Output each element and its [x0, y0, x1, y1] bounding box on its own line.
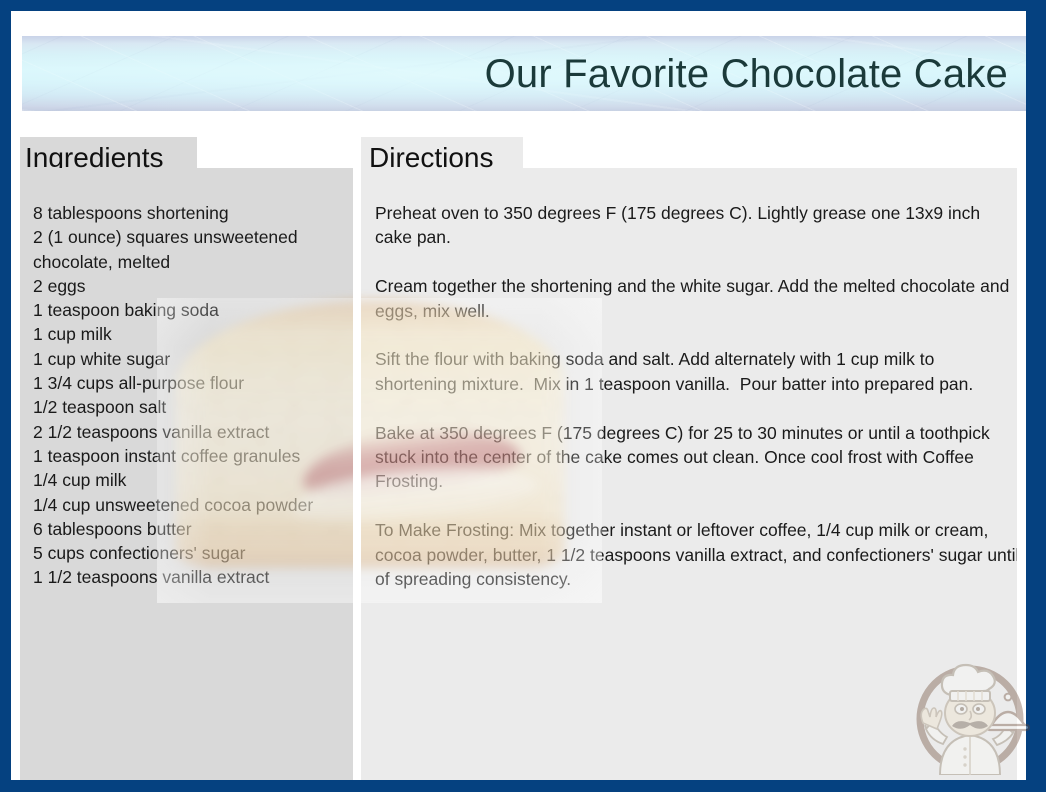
directions-body: Preheat oven to 350 degrees F (175 degre… — [375, 201, 1017, 616]
ingredient-item: 8 tablespoons shortening — [33, 201, 353, 225]
ingredient-item: 1/2 teaspoon salt — [33, 395, 353, 419]
ingredient-item: 1 teaspoon instant coffee granules — [33, 444, 353, 468]
ingredient-item: 1 cup white sugar — [33, 347, 353, 371]
direction-step: Bake at 350 degrees F (175 degrees C) fo… — [375, 421, 1017, 494]
ingredient-item: 2 (1 ounce) squares unsweetened chocolat… — [33, 225, 353, 274]
panel-divider-seam — [353, 168, 361, 780]
ingredient-item: 1 1/2 teaspoons vanilla extract — [33, 565, 353, 589]
ingredient-item: 1/4 cup unsweetened cocoa powder — [33, 493, 353, 517]
ingredient-item: 2 eggs — [33, 274, 353, 298]
card-inner-surface: Our Favorite Chocolate Cake Ingredients … — [11, 11, 1026, 780]
directions-panel: Preheat oven to 350 degrees F (175 degre… — [361, 168, 1017, 780]
ingredient-item: 1 teaspoon baking soda — [33, 298, 353, 322]
ingredient-item: 1 cup milk — [33, 322, 353, 346]
ingredients-list: 8 tablespoons shortening2 (1 ounce) squa… — [33, 201, 353, 590]
title-banner: Our Favorite Chocolate Cake — [22, 36, 1026, 111]
page-title: Our Favorite Chocolate Cake — [485, 53, 1008, 95]
ingredient-item: 5 cups confectioners' sugar — [33, 541, 353, 565]
ingredient-item: 1 3/4 cups all-purpose flour — [33, 371, 353, 395]
ingredients-panel: 8 tablespoons shortening2 (1 ounce) squa… — [20, 168, 353, 780]
ingredient-item: 2 1/2 teaspoons vanilla extract — [33, 420, 353, 444]
direction-step: Cream together the shortening and the wh… — [375, 274, 1017, 323]
recipe-card: Our Favorite Chocolate Cake Ingredients … — [0, 0, 1046, 792]
direction-step: Sift the flour with baking soda and salt… — [375, 347, 1017, 396]
ingredient-item: 6 tablespoons butter — [33, 517, 353, 541]
ingredient-item: 1/4 cup milk — [33, 468, 353, 492]
direction-step: To Make Frosting: Mix together instant o… — [375, 518, 1017, 591]
direction-step: Preheat oven to 350 degrees F (175 degre… — [375, 201, 1017, 250]
